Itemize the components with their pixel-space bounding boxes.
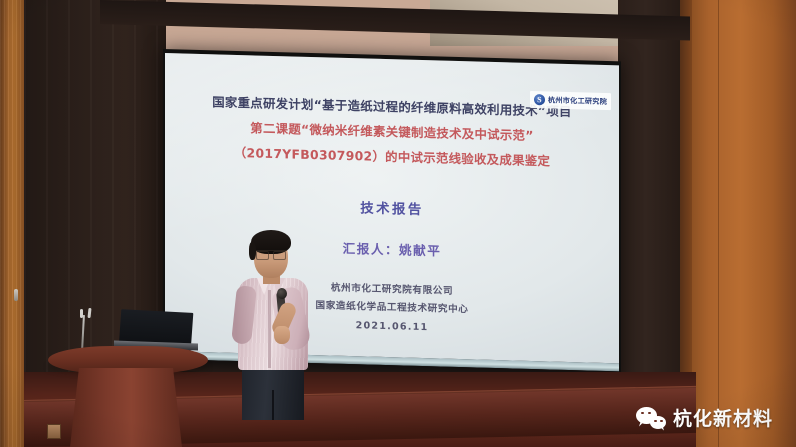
speaker-leg-seam [272,390,274,420]
wechat-dot-4 [660,420,663,423]
presentation-photo: 国家重点研发计划“基于造纸过程的纤维原料高效利用技术”项目 第二课题“微纳米纤维… [0,0,796,447]
speaker-shirt-placket [268,290,271,368]
speaker-hair-side [249,242,256,260]
glasses-icon [256,250,286,258]
wechat-bubble-small [650,416,666,429]
institute-logo-label: 杭州市化工研究院 [548,95,607,107]
podium-body [70,368,182,447]
speaker-hand [274,326,290,344]
wechat-dot-1 [641,412,644,415]
wechat-icon [636,407,666,429]
wechat-dot-2 [648,412,651,415]
institute-logo-icon [534,94,545,105]
wechat-watermark: 杭化新材料 [636,404,773,431]
institute-logo: 杭州市化工研究院 [530,91,611,110]
slide-report-type: 技术报告 [165,191,619,223]
wall-outlet-plate [47,424,61,439]
wood-wall-left [0,0,24,447]
wood-wall-right [690,0,796,447]
desk-microphone-1 [80,309,83,318]
slide-title-line-3: （2017YFB0307902）的中试示范线验收及成果鉴定 [165,141,619,171]
door-handle [14,289,18,301]
watermark-label: 杭化新材料 [673,404,773,431]
wechat-dot-3 [654,420,657,423]
speaker-figure [216,228,332,418]
slide-title-line-2: 第二课题“微纳米纤维素关键制造技术及中试示范” [165,116,619,146]
